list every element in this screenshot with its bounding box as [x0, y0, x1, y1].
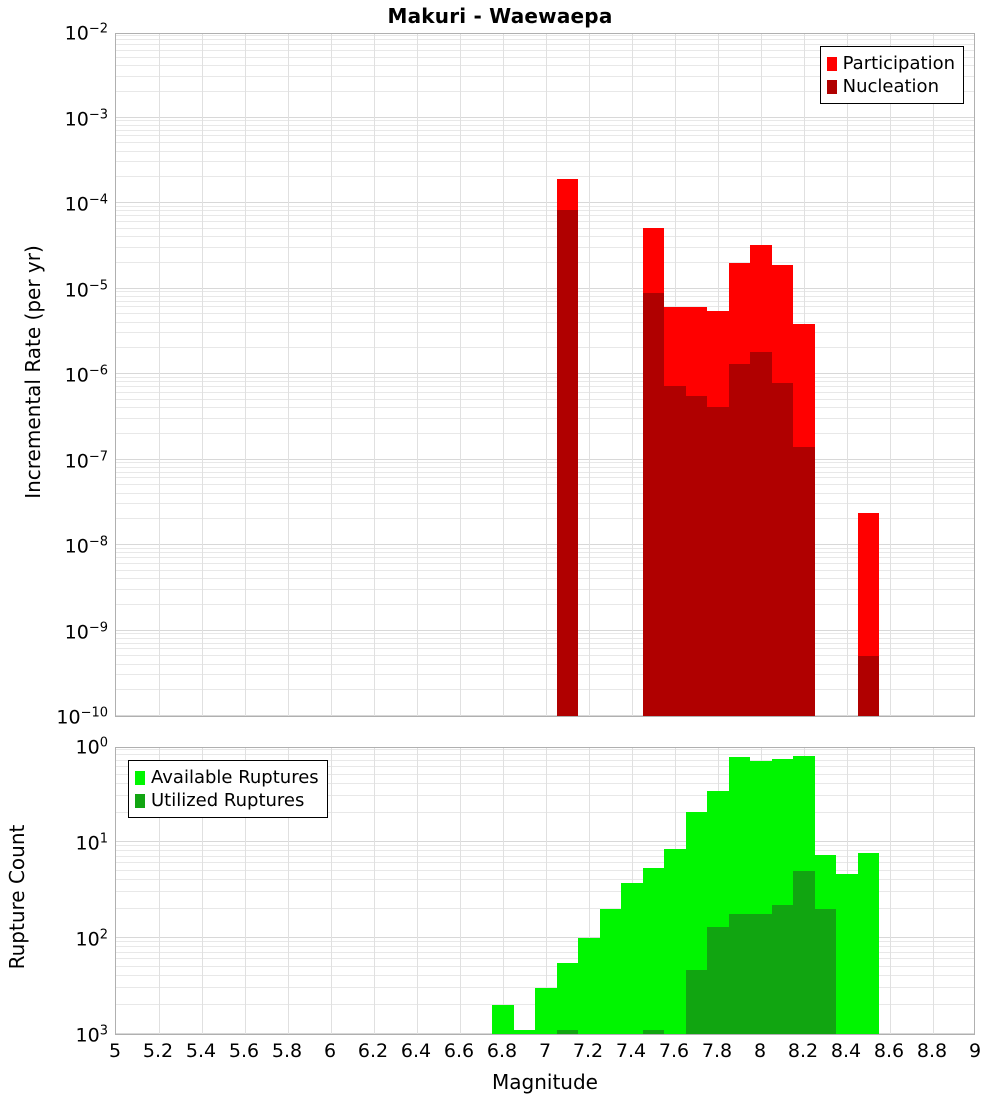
- y-tick-label: 10−2: [65, 22, 108, 43]
- x-tick-label: 5.4: [186, 1040, 216, 1062]
- bar-segment-nucleation: [643, 293, 665, 716]
- bar-segment-available: [492, 1005, 514, 1034]
- x-tick-label: 5.6: [229, 1040, 259, 1062]
- bar-segment-available: [514, 1030, 536, 1034]
- bar: [772, 33, 794, 716]
- bar: [578, 747, 600, 1034]
- bar-segment-utilized: [686, 970, 708, 1034]
- bar-segment-available: [643, 868, 665, 1034]
- bar-segment-available: [557, 963, 579, 1034]
- x-tick-label: 6: [324, 1040, 336, 1062]
- bar-segment-available: [664, 849, 686, 1034]
- x-tick-label: 6.4: [401, 1040, 431, 1062]
- bar: [664, 747, 686, 1034]
- legend-swatch-icon: [135, 794, 145, 808]
- x-tick-label: 5.2: [143, 1040, 173, 1062]
- bar-segment-utilized: [772, 905, 794, 1034]
- bar: [729, 747, 751, 1034]
- bar: [707, 33, 729, 716]
- legend-label: Nucleation: [843, 75, 939, 98]
- legend-entry: Nucleation: [827, 75, 955, 98]
- rupture-count-plot: Available RupturesUtilized Ruptures: [115, 747, 975, 1035]
- bar-segment-nucleation: [793, 447, 815, 716]
- legend-swatch-icon: [827, 80, 837, 94]
- bar-segment-utilized: [815, 909, 837, 1034]
- bar-segment-nucleation: [557, 210, 579, 716]
- bar-segment-nucleation: [750, 352, 772, 716]
- y-tick-label: 10−10: [56, 706, 108, 727]
- bar: [815, 747, 837, 1034]
- bar: [858, 747, 880, 1034]
- legend-swatch-icon: [827, 57, 837, 71]
- bar: [750, 747, 772, 1034]
- bars-top: [116, 34, 974, 716]
- bar-segment-nucleation: [729, 364, 751, 716]
- y-tick-label: 10−7: [65, 450, 108, 471]
- x-axis-label: Magnitude: [115, 1070, 975, 1094]
- x-tick-label: 7.4: [616, 1040, 646, 1062]
- x-tick-label: 8.6: [874, 1040, 904, 1062]
- bar-segment-utilized: [643, 1030, 665, 1034]
- x-tick-label: 8: [754, 1040, 766, 1062]
- x-tick-label: 8.4: [831, 1040, 861, 1062]
- y-tick-label: 10−9: [65, 621, 108, 642]
- bar: [793, 747, 815, 1034]
- bar: [643, 747, 665, 1034]
- y-tick-label: 10−4: [65, 193, 108, 214]
- bar-segment-utilized: [557, 1030, 579, 1034]
- y-axis-label-bottom: Rupture Count: [5, 777, 29, 1017]
- bar: [686, 747, 708, 1034]
- bar-segment-nucleation: [686, 396, 708, 716]
- bar: [643, 33, 665, 716]
- x-tick-label: 7.6: [659, 1040, 689, 1062]
- x-tick-label: 7.8: [702, 1040, 732, 1062]
- y-tick-label: 102: [76, 928, 108, 949]
- x-tick-label: 8.8: [917, 1040, 947, 1062]
- bar: [772, 747, 794, 1034]
- bar: [793, 33, 815, 716]
- legend-incremental-rate: ParticipationNucleation: [820, 46, 964, 104]
- bar-segment-nucleation: [707, 407, 729, 716]
- bar-segment-nucleation: [858, 656, 880, 716]
- legend-entry: Participation: [827, 52, 955, 75]
- y-tick-label: 10−3: [65, 108, 108, 129]
- bar: [707, 747, 729, 1034]
- bar-segment-available: [858, 853, 880, 1034]
- incremental-rate-plot: ParticipationNucleation: [115, 33, 975, 717]
- bar: [836, 747, 858, 1034]
- page-title: Makuri - Waewaepa: [0, 4, 1000, 28]
- legend-swatch-icon: [135, 771, 145, 785]
- legend-entry: Utilized Ruptures: [135, 789, 319, 812]
- bar: [492, 747, 514, 1034]
- y-tick-label: 10−5: [65, 279, 108, 300]
- y-tick-label: 103: [76, 1024, 108, 1045]
- bar-segment-available: [836, 874, 858, 1034]
- x-tick-label: 6.8: [487, 1040, 517, 1062]
- bar: [686, 33, 708, 716]
- y-tick-label: 10−6: [65, 364, 108, 385]
- legend-entry: Available Ruptures: [135, 766, 319, 789]
- y-tick-label: 101: [76, 832, 108, 853]
- bar-segment-available: [578, 938, 600, 1034]
- x-tick-label: 7: [539, 1040, 551, 1062]
- bar-segment-utilized: [750, 914, 772, 1035]
- bar: [858, 33, 880, 716]
- bar: [729, 33, 751, 716]
- bar-segment-utilized: [707, 927, 729, 1034]
- bar: [600, 747, 622, 1034]
- bar-segment-available: [600, 909, 622, 1034]
- bar-segment-utilized: [729, 914, 751, 1035]
- chart-page: Makuri - Waewaepa ParticipationNucleatio…: [0, 0, 1000, 1100]
- y-axis-label-top: Incremental Rate (per yr): [21, 222, 45, 522]
- legend-label: Utilized Ruptures: [151, 789, 304, 812]
- legend-label: Available Ruptures: [151, 766, 319, 789]
- x-tick-label: 6.2: [358, 1040, 388, 1062]
- y-tick-label: 10−8: [65, 535, 108, 556]
- x-tick-label: 8.2: [788, 1040, 818, 1062]
- x-tick-label: 5.8: [272, 1040, 302, 1062]
- bar: [557, 747, 579, 1034]
- x-tick-label: 6.6: [444, 1040, 474, 1062]
- bar: [535, 747, 557, 1034]
- y-tick-label: 100: [76, 736, 108, 757]
- legend-label: Participation: [843, 52, 955, 75]
- bar-segment-nucleation: [664, 386, 686, 716]
- bar: [514, 747, 536, 1034]
- legend-rupture-count: Available RupturesUtilized Ruptures: [128, 760, 328, 818]
- y-ticks-top: 10−210−310−410−510−610−710−810−910−10: [0, 33, 108, 717]
- bar-segment-available: [621, 883, 643, 1034]
- bar: [664, 33, 686, 716]
- bar-segment-available: [535, 988, 557, 1034]
- bar-segment-utilized: [793, 871, 815, 1034]
- x-tick-label: 5: [109, 1040, 121, 1062]
- bar-segment-nucleation: [772, 383, 794, 716]
- x-tick-label: 9: [969, 1040, 981, 1062]
- bar: [557, 33, 579, 716]
- bar: [621, 747, 643, 1034]
- bar: [750, 33, 772, 716]
- x-tick-label: 7.2: [573, 1040, 603, 1062]
